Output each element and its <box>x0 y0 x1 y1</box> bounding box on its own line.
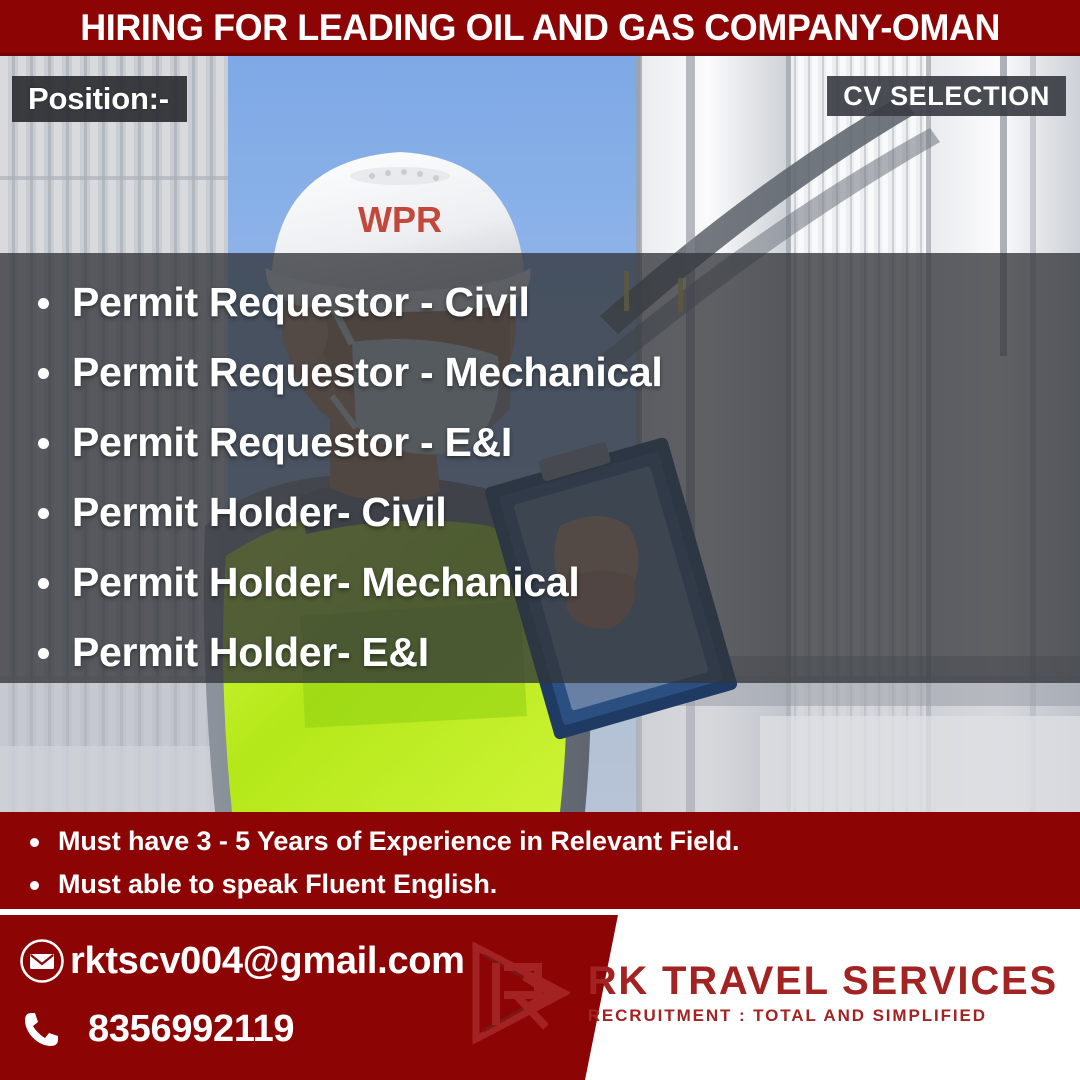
position-item: Permit Holder- E&I <box>30 617 1080 687</box>
company-logo: RK TRAVEL SERVICES RECRUITMENT : TOTAL A… <box>466 933 1058 1053</box>
requirement-item: Must able to speak Fluent English. <box>22 863 1080 906</box>
logo-tagline: RECRUITMENT : TOTAL AND SIMPLIFIED <box>588 1004 1058 1028</box>
cv-selection-badge: CV SELECTION <box>827 76 1066 116</box>
logo-company-name: RK TRAVEL SERVICES <box>588 958 1058 1004</box>
cv-selection-text: CV SELECTION <box>843 81 1050 112</box>
rk-triangle-r-icon <box>466 941 570 1045</box>
requirement-item: Must have 3 - 5 Years of Experience in R… <box>22 820 1080 863</box>
logo-text-block: RK TRAVEL SERVICES RECRUITMENT : TOTAL A… <box>588 958 1058 1028</box>
position-item: Permit Requestor - Mechanical <box>30 337 1080 407</box>
header-title: HIRING FOR LEADING OIL AND GAS COMPANY-O… <box>80 7 1000 49</box>
position-item: Permit Requestor - Civil <box>30 267 1080 337</box>
background-photo: WPR Permit Requestor - Civil Permit Requ… <box>0 56 1080 812</box>
position-label-badge: Position:- <box>12 76 187 122</box>
requirements-list: Must have 3 - 5 Years of Experience in R… <box>0 820 1080 906</box>
envelope-icon <box>14 938 70 984</box>
poster-header: HIRING FOR LEADING OIL AND GAS COMPANY-O… <box>0 0 1080 56</box>
positions-list: Permit Requestor - Civil Permit Requesto… <box>0 267 1080 687</box>
requirements-band: Must have 3 - 5 Years of Experience in R… <box>0 812 1080 912</box>
email-text: rktscv004@gmail.com <box>70 940 465 983</box>
position-item: Permit Requestor - E&I <box>30 407 1080 477</box>
svg-text:WPR: WPR <box>358 199 442 240</box>
footer-divider <box>0 909 1080 913</box>
positions-overlay: Permit Requestor - Civil Permit Requesto… <box>0 253 1080 683</box>
recruitment-poster: HIRING FOR LEADING OIL AND GAS COMPANY-O… <box>0 0 1080 1080</box>
position-item: Permit Holder- Mechanical <box>30 547 1080 617</box>
phone-text: 8356992119 <box>70 1008 294 1051</box>
poster-footer: rktscv004@gmail.com 8356992119 <box>0 915 1080 1080</box>
position-label-text: Position:- <box>28 81 169 117</box>
phone-icon <box>14 1007 70 1051</box>
position-item: Permit Holder- Civil <box>30 477 1080 547</box>
